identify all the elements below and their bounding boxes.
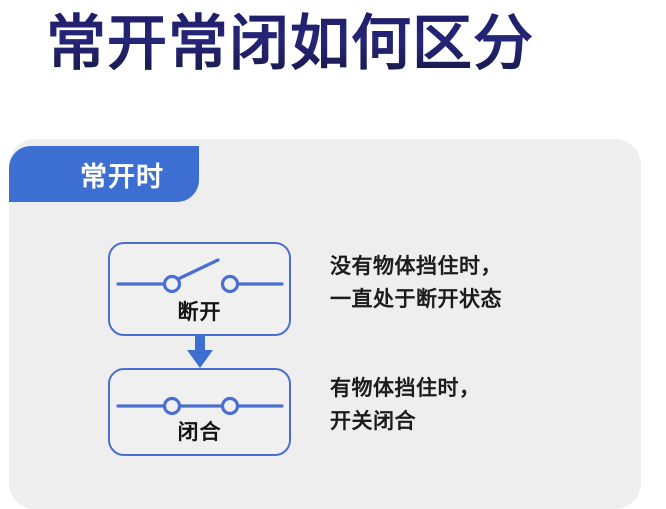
description-open-line-1: 没有物体挡住时， [330, 250, 502, 283]
description-closed-line-1: 有物体挡住时， [330, 372, 481, 405]
switch-open-label: 断开 [110, 296, 289, 326]
description-closed: 有物体挡住时， 开关闭合 [330, 372, 481, 438]
section-tab-normally-open: 常开时 [9, 146, 199, 202]
switch-open-icon [110, 254, 289, 298]
page-title: 常开常闭如何区分 [46, 6, 534, 82]
section-tab-label: 常开时 [9, 146, 199, 202]
switch-closed-label: 闭合 [110, 416, 289, 446]
description-open-line-2: 一直处于断开状态 [330, 283, 502, 316]
arrow-down-icon [183, 336, 217, 370]
switch-closed-diagram: 闭合 [108, 368, 291, 456]
switch-open-diagram: 断开 [108, 242, 291, 336]
description-open: 没有物体挡住时， 一直处于断开状态 [330, 250, 502, 316]
description-closed-line-2: 开关闭合 [330, 405, 481, 438]
